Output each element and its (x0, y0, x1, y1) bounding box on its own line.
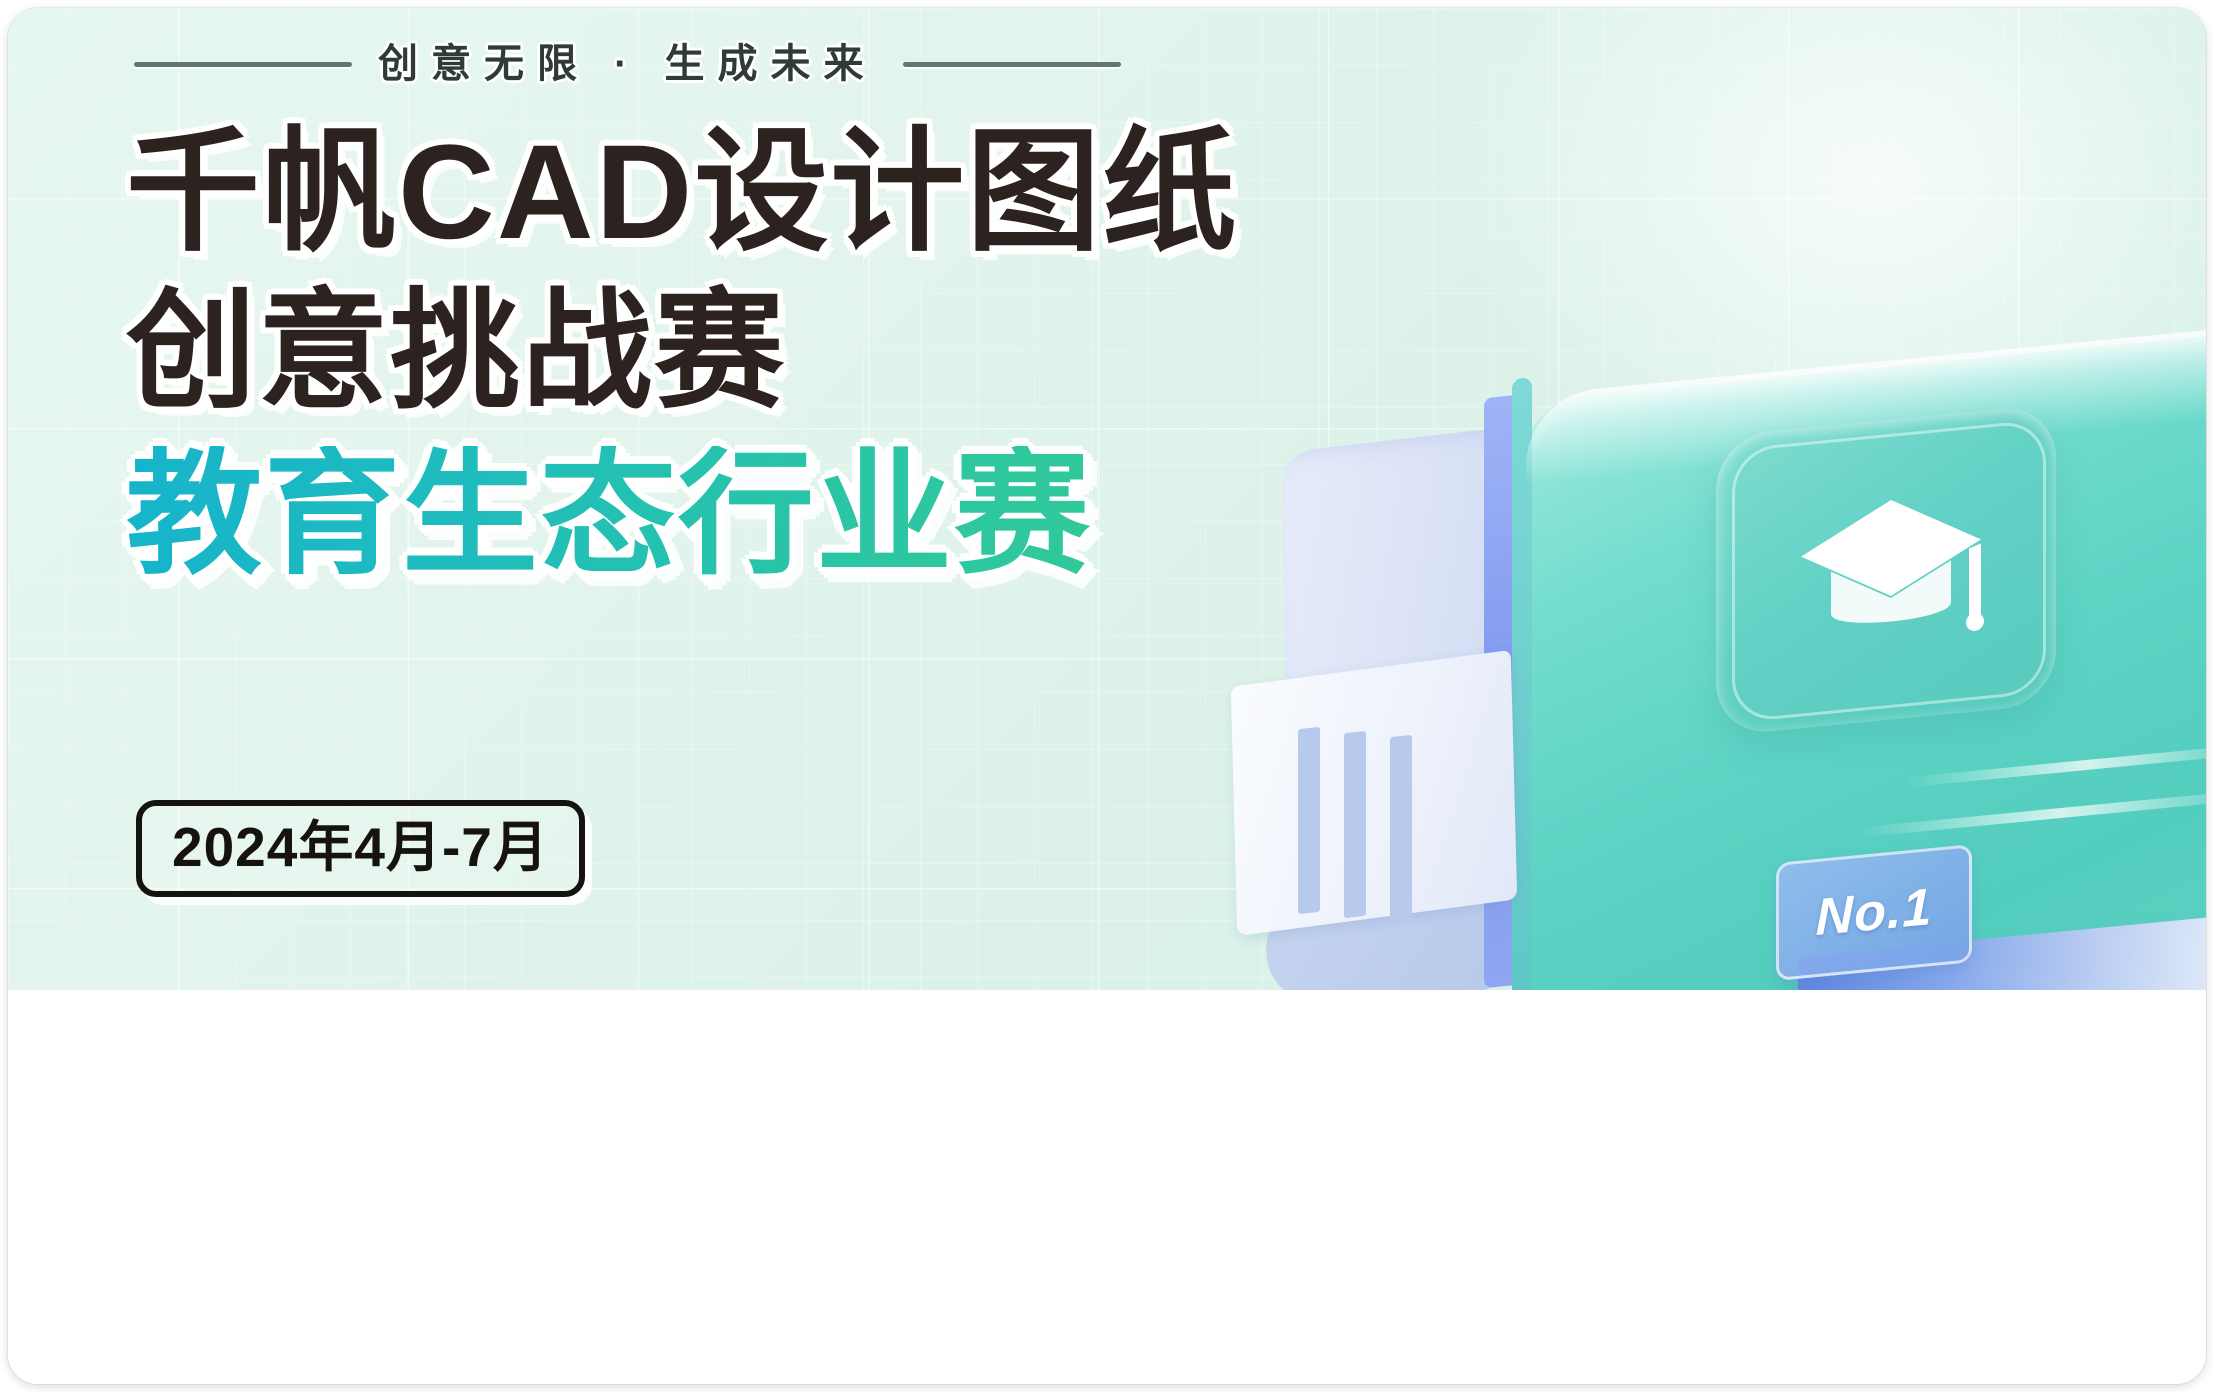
tagline-rule-left-icon (134, 62, 352, 67)
light-streak-1 (1906, 743, 2206, 788)
slab-spine (1484, 394, 1528, 988)
event-date-badge: 2024年4月-7月 (136, 800, 585, 897)
page-card: 创意无限 · 生成未来 千帆CAD设计图纸 创意挑战赛 教育生态行业赛 2024… (8, 8, 2206, 1384)
light-streak-2 (1856, 788, 2206, 837)
banner-illustration: No.1 No.2 (1216, 308, 2206, 990)
education-tile-rim (1732, 419, 2046, 723)
blueprint-roll-end-icon (1259, 855, 1528, 990)
blueprint-roll-icon (1281, 424, 1541, 990)
promo-banner[interactable]: 创意无限 · 生成未来 千帆CAD设计图纸 创意挑战赛 教育生态行业赛 2024… (8, 8, 2206, 990)
content-area (8, 990, 2206, 1384)
blueprint-sheet-bar-2 (1344, 731, 1366, 918)
education-tile (1716, 404, 2056, 737)
podium-slab (1516, 329, 2206, 990)
tagline-text: 创意无限 · 生成未来 (378, 44, 877, 84)
blueprint-sheet-bar-1 (1298, 727, 1320, 914)
banner-tagline: 创意无限 · 生成未来 (134, 38, 1634, 90)
event-date-text: 2024年4月-7月 (172, 819, 549, 875)
slab-edge (1512, 377, 1532, 990)
tagline-rule-right-icon (903, 62, 1121, 67)
headline-line-1: 千帆CAD设计图纸 (126, 126, 1238, 260)
banner-headline: 千帆CAD设计图纸 创意挑战赛 教育生态行业赛 (126, 126, 1238, 582)
blueprint-sheet-bar-3 (1390, 735, 1412, 922)
rank-label-1: No.1 (1779, 873, 1969, 951)
rank-bar-1 (1798, 912, 2206, 990)
headline-line-2: 创意挑战赛 (126, 286, 1238, 416)
rank-chip-1: No.1 (1776, 844, 1972, 981)
graduation-cap-icon (1791, 476, 1991, 665)
headline-line-3: 教育生态行业赛 (126, 446, 1238, 582)
slab-highlight (1526, 324, 2206, 485)
blueprint-sheet-icon (1231, 650, 1517, 936)
